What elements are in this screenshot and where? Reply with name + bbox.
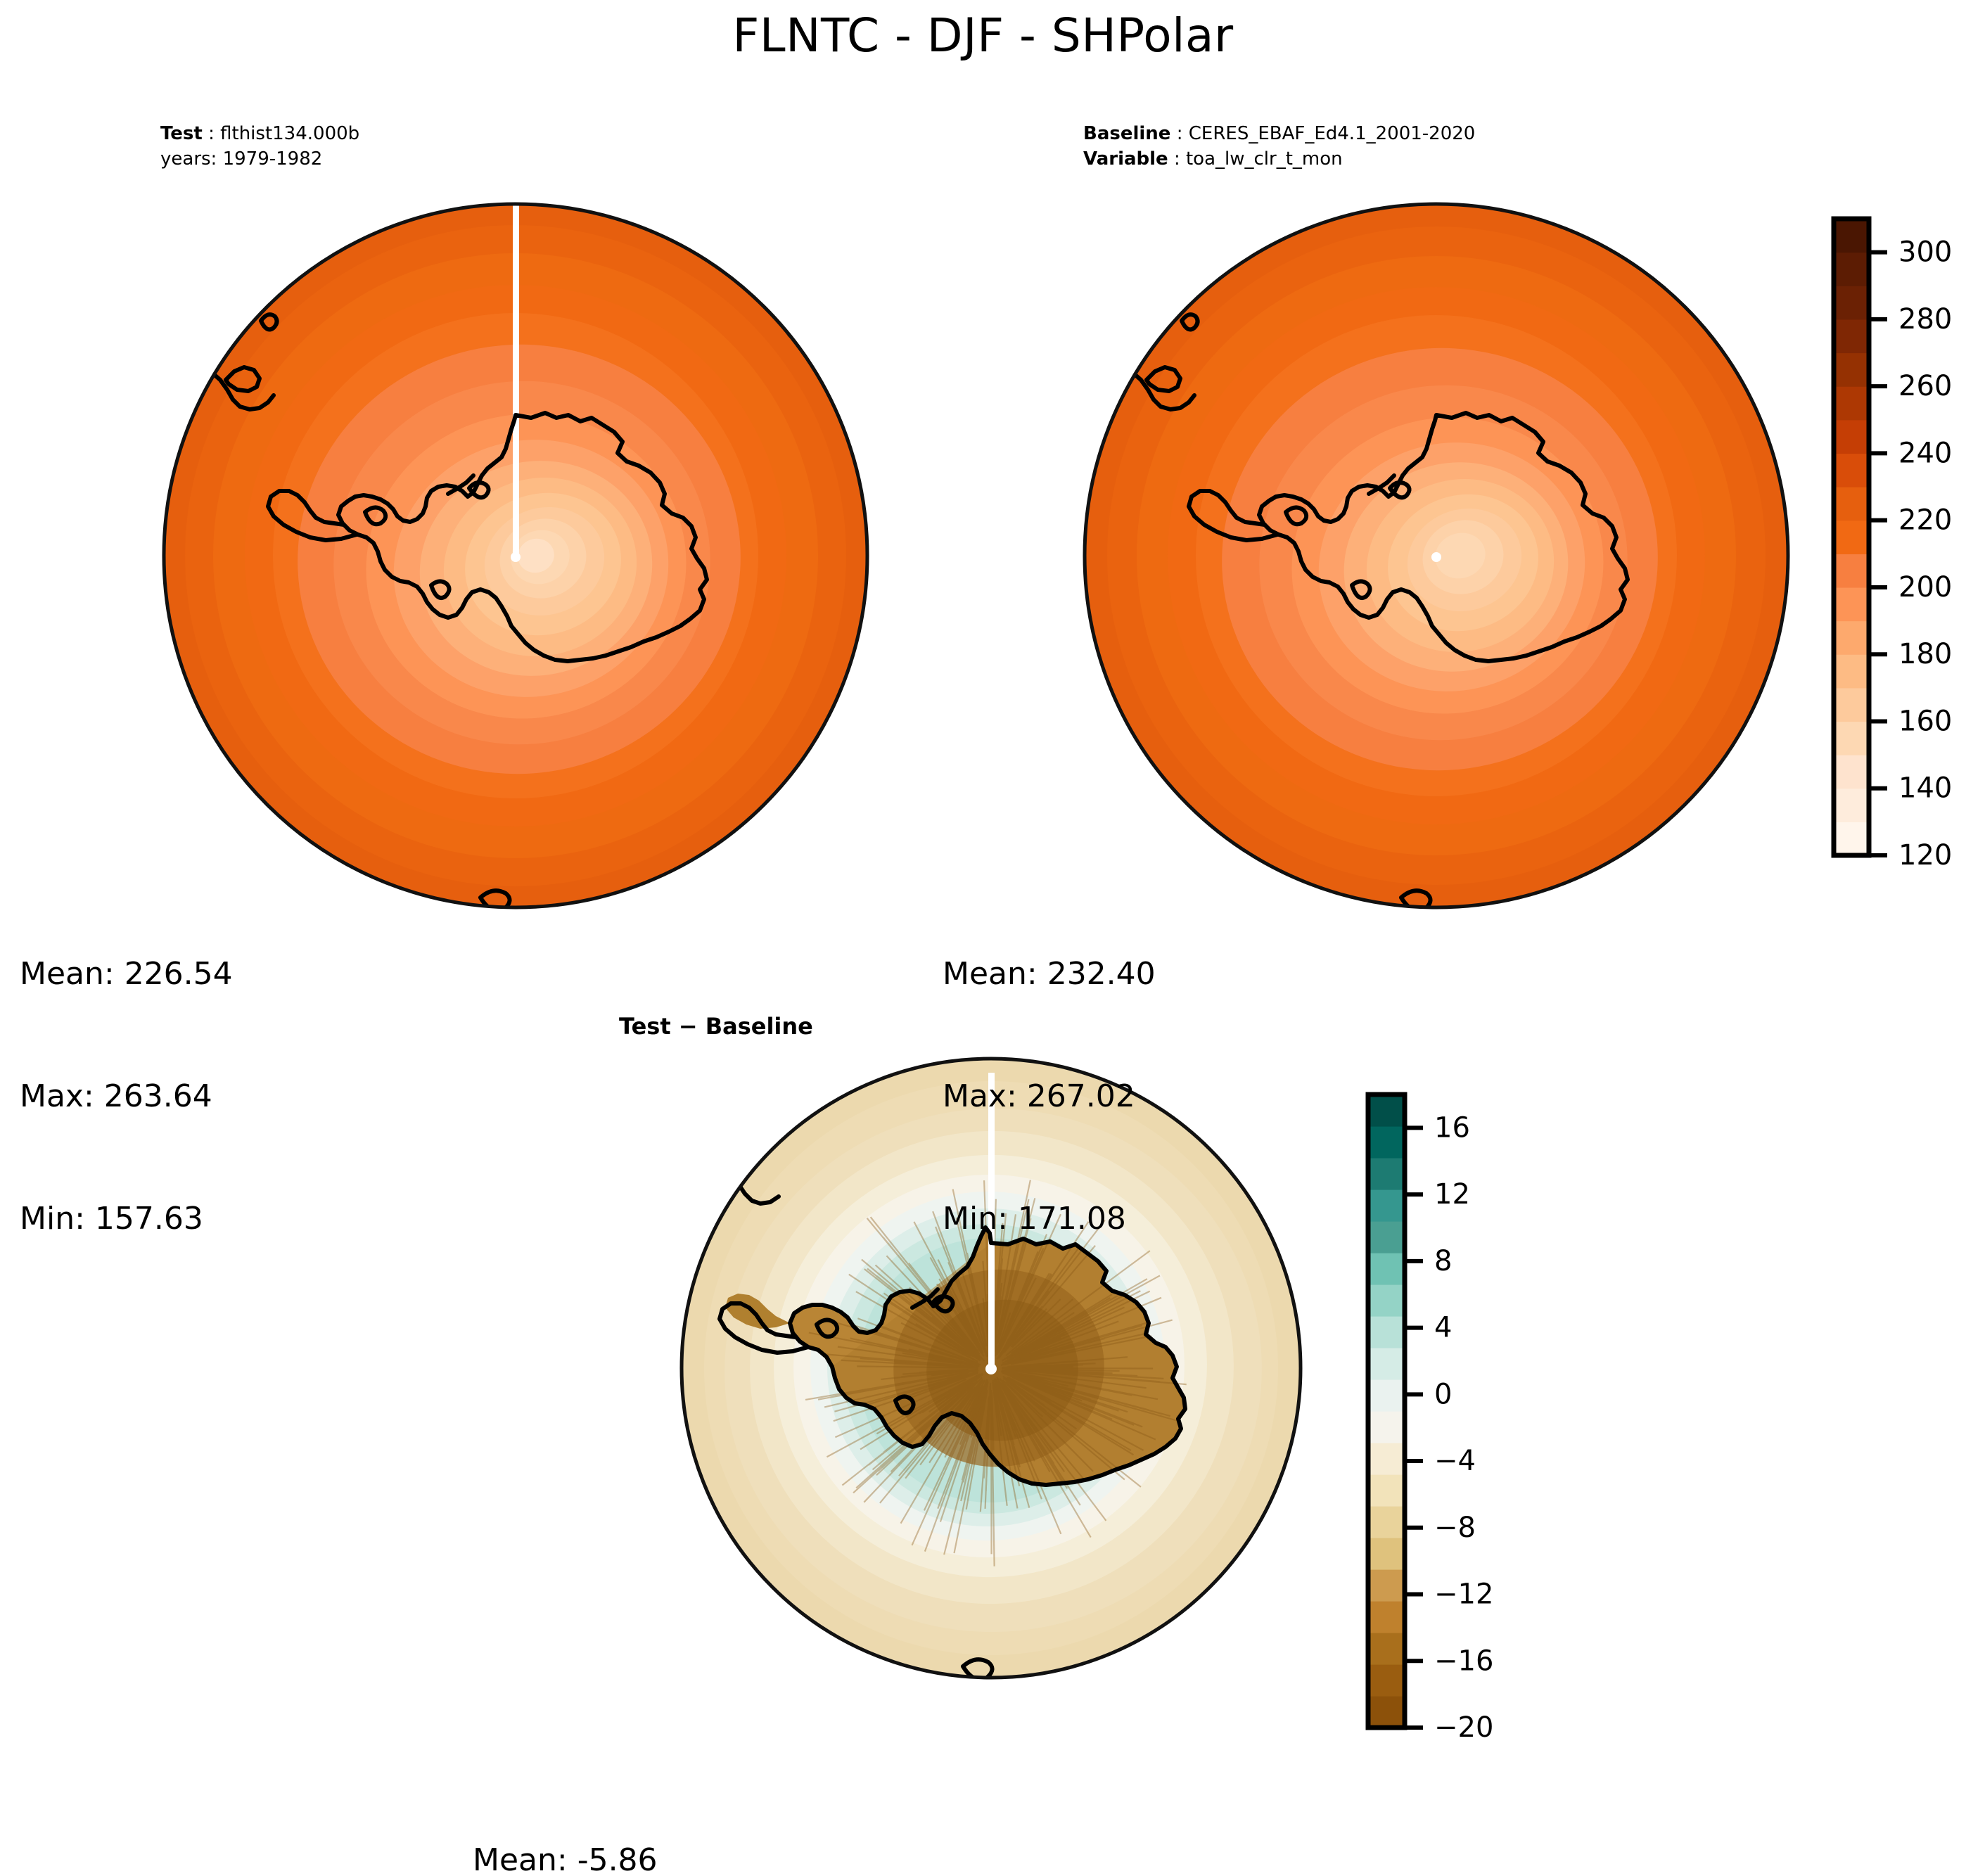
colorbar-swatch bbox=[1368, 1095, 1405, 1127]
colorbar-swatch bbox=[1368, 1601, 1405, 1633]
difference-mean: Mean: -5.86 bbox=[473, 1840, 658, 1876]
colorbar-swatch bbox=[1368, 1316, 1405, 1348]
baseline-max: Max: 267.02 bbox=[943, 1076, 1156, 1117]
colorbar-tick-label: 260 bbox=[1898, 370, 1952, 402]
colorbar-swatch bbox=[1834, 453, 1869, 487]
colorbar-tick-label: 240 bbox=[1898, 437, 1952, 469]
difference-stats: Mean: -5.86 Max: 7.28 Min: -22.85 bbox=[473, 1759, 658, 1876]
colorbar-swatch bbox=[1834, 587, 1869, 621]
colorbar-swatch bbox=[1834, 688, 1869, 722]
figure-canvas: FLNTC - DJF - SHPolar Test : flthist134.… bbox=[0, 0, 1966, 1876]
colorbar-tick-label: 120 bbox=[1898, 839, 1952, 872]
colorbar-swatch bbox=[1368, 1379, 1405, 1412]
colorbar-swatch bbox=[1834, 621, 1869, 655]
colorbar-swatch bbox=[1368, 1696, 1405, 1728]
colorbar-tick-label: 160 bbox=[1898, 705, 1952, 737]
colorbar-tick-label: 4 bbox=[1434, 1312, 1452, 1344]
colorbar-swatch bbox=[1834, 755, 1869, 789]
colorbar-swatch bbox=[1368, 1348, 1405, 1380]
main-colorbar-ticks: 300280260240220200180160140120 bbox=[1869, 236, 1952, 872]
colorbar-tick-label: 300 bbox=[1898, 236, 1952, 269]
colorbar-swatch bbox=[1834, 789, 1869, 822]
colorbar-swatch bbox=[1368, 1474, 1405, 1507]
colorbar-tick-label: −12 bbox=[1434, 1578, 1493, 1611]
colorbar-swatch bbox=[1834, 521, 1869, 554]
difference-colorbar-swatches bbox=[1368, 1095, 1405, 1728]
colorbar-swatch bbox=[1368, 1221, 1405, 1253]
test-mean: Mean: 226.54 bbox=[20, 954, 233, 995]
colorbar-swatch bbox=[1368, 1158, 1405, 1190]
baseline-mean: Mean: 232.40 bbox=[943, 954, 1156, 995]
colorbar-swatch bbox=[1368, 1253, 1405, 1285]
baseline-min: Min: 171.08 bbox=[943, 1199, 1156, 1239]
main-colorbar: 300280260240220200180160140120 bbox=[1834, 219, 1952, 872]
colorbar-swatch bbox=[1834, 654, 1869, 688]
colorbar-swatch bbox=[1834, 721, 1869, 755]
colorbar-tick-label: 200 bbox=[1898, 571, 1952, 604]
test-stats: Mean: 226.54 Max: 263.64 Min: 157.63 bbox=[20, 872, 233, 1321]
colorbar-tick-label: −20 bbox=[1434, 1711, 1493, 1744]
colorbar-tick-label: 0 bbox=[1434, 1378, 1452, 1410]
colorbar-swatch bbox=[1834, 253, 1869, 286]
colorbar-tick-label: 180 bbox=[1898, 638, 1952, 670]
main-colorbar-swatches bbox=[1834, 219, 1869, 856]
colorbar-swatch bbox=[1368, 1538, 1405, 1570]
colorbar-swatch bbox=[1368, 1443, 1405, 1475]
test-max: Max: 263.64 bbox=[20, 1076, 233, 1117]
colorbar-tick-label: 16 bbox=[1434, 1111, 1470, 1144]
colorbar-swatch bbox=[1834, 554, 1869, 587]
colorbar-tick-label: 280 bbox=[1898, 303, 1952, 336]
test-min: Min: 157.63 bbox=[20, 1199, 233, 1239]
colorbar-tick-label: 12 bbox=[1434, 1178, 1470, 1211]
difference-colorbar: 1612840−4−8−12−16−20 bbox=[1368, 1095, 1493, 1744]
colorbar-swatch bbox=[1368, 1569, 1405, 1602]
colorbar-swatch bbox=[1368, 1506, 1405, 1538]
meridian-seam bbox=[513, 203, 519, 558]
colorbar-swatch bbox=[1834, 319, 1869, 353]
colorbar-swatch bbox=[1834, 286, 1869, 319]
colorbar-swatch bbox=[1368, 1284, 1405, 1317]
baseline-stats: Mean: 232.40 Max: 267.02 Min: 171.08 bbox=[943, 872, 1156, 1321]
colorbar-swatch bbox=[1834, 353, 1869, 387]
difference-colorbar-ticks: 1612840−4−8−12−16−20 bbox=[1405, 1111, 1493, 1744]
colorbar-swatch bbox=[1834, 219, 1869, 253]
colorbar-tick-label: 8 bbox=[1434, 1245, 1452, 1277]
colorbar-tick-label: 140 bbox=[1898, 772, 1952, 805]
colorbar-tick-label: −8 bbox=[1434, 1512, 1476, 1544]
colorbar-swatch bbox=[1368, 1633, 1405, 1665]
colorbar-swatch bbox=[1834, 487, 1869, 521]
colorbar-swatch bbox=[1368, 1126, 1405, 1159]
colorbar-swatch bbox=[1368, 1411, 1405, 1443]
test-map bbox=[164, 203, 867, 911]
difference-panel-title: Test − Baseline bbox=[619, 1013, 813, 1040]
colorbar-tick-label: 220 bbox=[1898, 504, 1952, 537]
colorbar-tick-label: −16 bbox=[1434, 1645, 1493, 1677]
colorbar-swatch bbox=[1834, 386, 1869, 420]
baseline-map bbox=[1085, 204, 1788, 911]
colorbar-tick-label: −4 bbox=[1434, 1445, 1476, 1477]
colorbar-swatch bbox=[1834, 420, 1869, 454]
colorbar-swatch bbox=[1368, 1664, 1405, 1697]
colorbar-swatch bbox=[1834, 822, 1869, 855]
colorbar-swatch bbox=[1368, 1189, 1405, 1222]
